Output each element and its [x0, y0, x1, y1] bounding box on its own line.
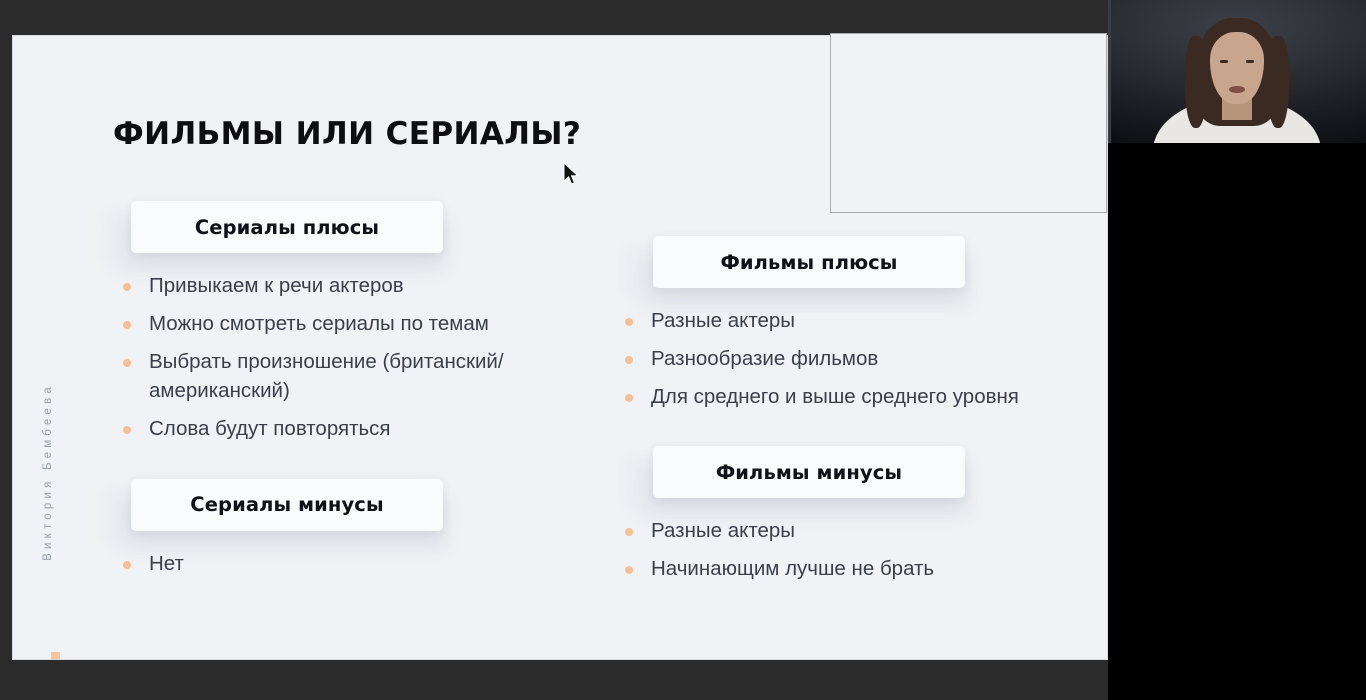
feed-edge	[1108, 0, 1111, 143]
card-heading-label: Сериалы плюсы	[195, 216, 379, 239]
card-serials-minus: Сериалы минусы	[93, 479, 593, 531]
video-panel-empty-area	[1108, 143, 1366, 700]
accent-bar	[51, 652, 60, 660]
column-serials: Сериалы плюсы Привыкаем к речи актеров М…	[93, 201, 593, 587]
list-item: Привыкаем к речи актеров	[121, 271, 593, 300]
heading-card: Сериалы минусы	[131, 479, 443, 531]
heading-card: Фильмы минусы	[653, 446, 965, 498]
card-films-plus: Фильмы плюсы	[601, 236, 1071, 288]
bullet-list-films-plus: Разные актеры Разнообразие фильмов Для с…	[623, 306, 1071, 411]
card-serials-plus: Сериалы плюсы	[93, 201, 593, 253]
presenter-eye-left	[1220, 60, 1228, 63]
heading-card: Фильмы плюсы	[653, 236, 965, 288]
presenter-face	[1210, 32, 1264, 104]
card-heading-label: Сериалы минусы	[190, 493, 383, 516]
list-item: Разнообразие фильмов	[623, 344, 1071, 373]
list-item: Разные актеры	[623, 306, 1071, 335]
author-rail: Виктория Бембеева	[13, 336, 83, 656]
page-title: ФИЛЬМЫ ИЛИ СЕРИАЛЫ?	[113, 116, 581, 152]
card-heading-label: Фильмы минусы	[716, 461, 902, 484]
bullet-list-films-minus: Разные актеры Начинающим лучше не брать	[623, 516, 1071, 583]
presenter-mouth	[1229, 86, 1245, 93]
list-item: Разные актеры	[623, 516, 1071, 545]
spacer	[601, 420, 1071, 446]
author-name-vertical: Виктория Бембеева	[42, 332, 54, 612]
selection-rectangle[interactable]	[830, 33, 1107, 213]
card-heading-label: Фильмы плюсы	[720, 251, 897, 274]
list-item: Нет	[121, 549, 593, 578]
list-item: Начинающим лучше не брать	[623, 554, 1071, 583]
column-films: Фильмы плюсы Разные актеры Разнообразие …	[601, 236, 1071, 593]
bullet-list-serials-minus: Нет	[121, 549, 593, 578]
spacer	[93, 453, 593, 479]
video-feed	[1108, 0, 1366, 143]
list-item: Слова будут повторяться	[121, 414, 593, 443]
presenter-video-panel[interactable]	[1108, 0, 1366, 700]
presenter-eye-right	[1246, 60, 1254, 63]
list-item: Выбрать произношение (британский/америка…	[121, 347, 593, 405]
card-films-minus: Фильмы минусы	[601, 446, 1071, 498]
screen: Виктория Бембеева ФИЛЬМЫ ИЛИ СЕРИАЛЫ? Се…	[0, 0, 1366, 700]
list-item: Для среднего и выше среднего уровня	[623, 382, 1071, 411]
heading-card: Сериалы плюсы	[131, 201, 443, 253]
bullet-list-serials-plus: Привыкаем к речи актеров Можно смотреть …	[121, 271, 593, 444]
list-item: Можно смотреть сериалы по темам	[121, 309, 593, 338]
